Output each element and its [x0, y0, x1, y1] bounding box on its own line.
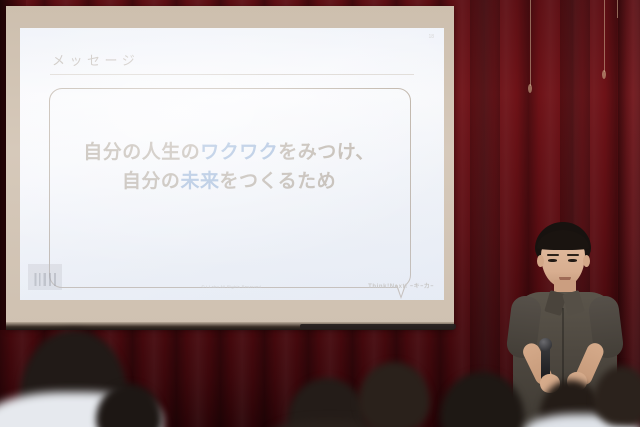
message-line-2: 自分の未来をつくるため — [49, 167, 409, 196]
hanging-cord — [617, 0, 618, 18]
slide-page-number: 18 — [428, 34, 434, 40]
hanging-cord — [604, 0, 605, 72]
message-line1-post: をみつけ、 — [278, 141, 375, 163]
hanging-cord — [530, 0, 531, 86]
message-line-1: 自分の人生のワクワクをみつけ、 — [49, 138, 409, 167]
speaker-eye-right — [568, 259, 577, 262]
microphone-head — [539, 338, 552, 351]
hanging-cord-knob — [528, 84, 532, 93]
message-line2-pre: 自分の — [122, 170, 181, 192]
speaker-ear-left — [537, 255, 544, 267]
slide-title: メッセージ — [52, 50, 139, 69]
slide-footer-brand: Think!Next! ｰキｰカｰ — [368, 281, 434, 290]
slide-footer-copyright: © i-Labo All Rights Reserved. — [201, 284, 262, 289]
curtain-fold — [470, 0, 500, 427]
presentation-photo-scene: 18 メッセージ 自分の人生のワクワクをみつけ、 自分の未来をつくるため © i… — [0, 0, 640, 427]
speaker-eye-left — [548, 259, 557, 262]
message-line2-post: をつくるため — [219, 170, 336, 192]
message-line2-highlight: 未来 — [180, 170, 219, 192]
message-line1-highlight: ワクワク — [200, 141, 278, 163]
speaker-eyebrow-left — [547, 254, 559, 256]
speaker-eyebrow-right — [567, 254, 579, 256]
slide-footer-logo-mark — [33, 273, 57, 286]
hanging-cord-knob — [602, 70, 606, 79]
slide-message: 自分の人生のワクワクをみつけ、 自分の未来をつくるため — [49, 138, 409, 197]
projection-screen-rod — [300, 324, 456, 329]
projected-slide: 18 メッセージ 自分の人生のワクワクをみつけ、 自分の未来をつくるため © i… — [20, 28, 444, 300]
speaker-ear-right — [583, 255, 590, 267]
slide-title-underline — [50, 74, 414, 75]
message-line1-pre: 自分の人生の — [83, 141, 200, 163]
